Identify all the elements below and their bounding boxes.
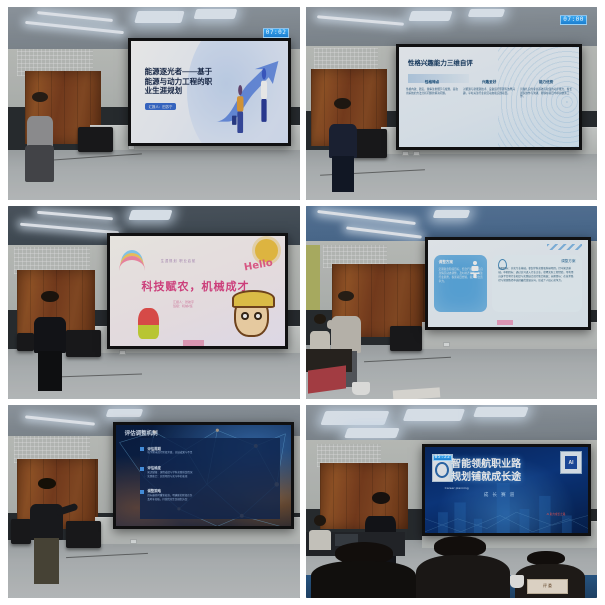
lecture-room-1: 能源逐光者——基于 能源与动力工程的职 业生涯规划 汇报人：田苏宁 07:02 xyxy=(8,7,300,200)
presenter-figure xyxy=(31,291,69,391)
slide-title-line1: 能源逐光者——基于 xyxy=(145,67,220,76)
rainbow-graphic xyxy=(119,256,145,275)
slide-title-line2: 能源与动力工程的职 xyxy=(145,77,220,86)
ceiling-panel-light xyxy=(432,210,469,218)
right-card: 调整方案 短期目标：夯实专业基础，参加学科竞赛和科研项目，打牢知识基础。中期目标… xyxy=(492,255,582,312)
group-heading-text: 调整策略 xyxy=(147,489,161,493)
presenter-torso xyxy=(27,116,53,147)
hello-handwriting: Hello xyxy=(243,258,273,274)
ceiling-panel-light xyxy=(403,409,466,421)
slide-subtitle: 成长赛道 xyxy=(484,492,518,498)
loudspeaker xyxy=(390,326,422,351)
person-illustration-b xyxy=(230,84,250,135)
lecture-room-5: 评估调整机制 评估周期 每学期末进行阶段复盘，总结成果与不足 评估维度 知识储备… xyxy=(8,405,300,598)
slide-column: 性格特点 性格内敛、踏实，做事注重细节与规划，喜欢用系统的方法分析问题并解决问题… xyxy=(406,80,458,100)
group-heading-text: 评估维度 xyxy=(147,466,161,470)
loudspeaker xyxy=(66,330,101,357)
slide-title: 性格兴趣能力三维自评 xyxy=(408,57,473,67)
photo-2[interactable]: 性格兴趣能力三维自评 性格特点 性格内敛、踏实，做事注重细节与规划，喜欢用系统的… xyxy=(306,7,598,200)
presenter-head xyxy=(38,478,55,489)
ceiling-panel-light xyxy=(409,11,453,21)
led-screen-frame[interactable]: 05:22 智能领航职业路 规划铺就成长途 成长赛道 Career planni… xyxy=(422,444,591,537)
presenter-head xyxy=(32,92,48,102)
ceiling-panel-light xyxy=(193,9,237,19)
cartoon-eye-left xyxy=(241,312,249,320)
column-body: 性格内敛、踏实，做事注重细节与规划，喜欢用系统的方法分析问题并解决问题。 xyxy=(406,88,458,96)
column-heading: 性格特点 xyxy=(406,80,458,85)
group-item: 知识储备：课程成绩与学科竞赛获奖情况 xyxy=(147,471,192,475)
ceiling-panel-light xyxy=(467,9,504,17)
slide-surface: 生涯规划 职业启航 科技赋农，机械成才 汇报人：张航宇 班级：机械2班 Hell… xyxy=(110,236,285,346)
presenter-trousers xyxy=(332,156,354,192)
ceiling-panel-light xyxy=(135,11,185,23)
ceiling-panel-light xyxy=(106,409,143,417)
ceiling-panel-light xyxy=(473,407,529,417)
slide-english-label: Career planning xyxy=(445,486,469,490)
audience-shoulders xyxy=(416,555,509,598)
cartoon-character xyxy=(234,295,269,337)
presenter-trousers xyxy=(34,538,59,585)
group-item: 每学期末进行阶段复盘，总结成果与不足 xyxy=(147,451,192,455)
slide-eyebrow: 生涯规划 职业启航 xyxy=(161,258,196,263)
slide-group: 调整策略 目标偏离时重新校准，明确新的阶段任务 及时补短板，持续优化生涯规划方案 xyxy=(140,488,192,501)
seated-head xyxy=(314,515,326,526)
loudspeaker xyxy=(78,127,113,152)
slide-column: 能力优势 具备扎实的专业基础与较强的动手能力，擅长团队协作与沟通，能够在项目中承… xyxy=(520,80,572,100)
presenter-skirt xyxy=(25,145,54,182)
led-screen-frame[interactable]: 评估调整机制 评估周期 每学期末进行阶段复盘，总结成果与不足 评估维度 知识储备… xyxy=(113,422,294,528)
podium-icon xyxy=(469,260,481,278)
slide-surface: 评估调整机制 评估周期 每学期末进行阶段复盘，总结成果与不足 评估维度 知识储备… xyxy=(116,425,291,525)
pink-footer-bar xyxy=(497,320,513,324)
slide-group: 评估周期 每学期末进行阶段复盘，总结成果与不足 xyxy=(140,446,192,455)
green-wall-strip xyxy=(306,245,321,311)
ceiling-panel-light xyxy=(321,411,390,425)
ai-chip-label: AI xyxy=(565,456,577,470)
led-screen-frame[interactable]: 性格兴趣能力三维自评 性格特点 性格内敛、踏实，做事注重细节与规划，喜欢用系统的… xyxy=(396,44,583,150)
wall-socket xyxy=(413,151,420,156)
cartoon-eye-right xyxy=(254,312,262,320)
audience-shoulders xyxy=(311,561,416,598)
wall-socket xyxy=(119,350,126,355)
timer-badge: 07:02 xyxy=(263,28,290,38)
ceiling-panel-light xyxy=(129,210,173,220)
photo-6[interactable]: 05:22 智能领航职业路 规划铺就成长途 成长赛道 Career planni… xyxy=(306,405,598,598)
presenter-torso xyxy=(329,124,356,158)
presenter-figure xyxy=(326,98,361,193)
presenter-figure xyxy=(23,92,58,185)
seal-icon xyxy=(435,462,449,478)
slide-surface: 性格兴趣能力三维自评 性格特点 性格内敛、踏实，做事注重细节与规划，喜欢用系统的… xyxy=(399,47,580,147)
bullet-square-icon xyxy=(140,447,144,451)
presenter-head xyxy=(338,291,354,301)
column-body: 具备扎实的专业基础与较强的动手能力，擅长团队协作与沟通，能够在项目中承担统筹工作… xyxy=(520,88,572,100)
photo-5[interactable]: 评估调整机制 评估周期 每学期末进行阶段复盘，总结成果与不足 评估维度 知识储备… xyxy=(8,405,300,598)
pink-footer-bar xyxy=(183,340,204,345)
slide-red-label: AI 助力成长之路 xyxy=(547,512,566,516)
presenter-figure xyxy=(28,478,66,584)
slide-title: 评估调整机制 xyxy=(125,429,158,437)
presenter-head-with-cap xyxy=(372,492,389,504)
group-item: 及时补短板，持续优化生涯规划方案 xyxy=(147,498,192,502)
lecture-room-6: 05:22 智能领航职业路 规划铺就成长途 成长赛道 Career planni… xyxy=(306,405,598,598)
person-illustration-a xyxy=(253,67,275,124)
ai-chip-icon: AI xyxy=(560,451,581,474)
led-screen-frame[interactable]: 调整方案 定期复盘阶段目标，结合行业动态与自身情况动态调整，及时补齐短板。关注行… xyxy=(425,237,591,330)
column-body: 对能源与新能源技术、设备运行原理有浓厚兴趣，平时关注行业前沿动态和实践项目。 xyxy=(463,88,515,96)
lecture-room-2: 性格兴趣能力三维自评 性格特点 性格内敛、踏实，做事注重细节与规划，喜欢用系统的… xyxy=(306,7,598,200)
slide-title: 能源逐光者——基于 能源与动力工程的职 业生涯规划 xyxy=(145,67,220,94)
seated-head xyxy=(314,314,325,324)
photo-collage: 能源逐光者——基于 能源与动力工程的职 业生涯规划 汇报人：田苏宁 07:02 xyxy=(0,0,605,605)
wall-socket xyxy=(402,151,409,156)
slide-presenter-tag: 汇报人：田苏宁 xyxy=(145,103,177,110)
presenter-head xyxy=(41,291,58,302)
paper-cup xyxy=(352,382,369,396)
led-screen-frame[interactable]: 能源逐光者——基于 能源与动力工程的职 业生涯规划 汇报人：田苏宁 xyxy=(128,38,291,146)
judge-name-card: 评 委 xyxy=(527,579,568,594)
left-card: 调整方案 定期复盘阶段目标，结合行业动态与自身情况动态调整，及时补齐短板。关注行… xyxy=(434,255,487,312)
slide-subtitle: 汇报人：张航宇 班级：机械2班 xyxy=(173,300,194,309)
wall-socket xyxy=(443,342,450,347)
column-heading: 兴趣爱好 xyxy=(463,80,515,85)
slide-subtitle-line2: 班级：机械2班 xyxy=(173,304,194,309)
paper-cup xyxy=(510,575,525,589)
photo-4[interactable]: 调整方案 定期复盘阶段目标，结合行业动态与自身情况动态调整，及时补齐短板。关注行… xyxy=(306,206,598,399)
slide-surface: 能源逐光者——基于 能源与动力工程的职 业生涯规划 汇报人：田苏宁 xyxy=(131,41,288,143)
zigzag-decoration xyxy=(547,244,582,250)
slide-columns: 性格特点 性格内敛、踏实，做事注重细节与规划，喜欢用系统的方法分析问题并解决问题… xyxy=(406,80,572,100)
led-screen-frame[interactable]: 生涯规划 职业启航 科技赋农，机械成才 汇报人：张航宇 班级：机械2班 Hell… xyxy=(107,233,288,349)
slide-surface: 调整方案 定期复盘阶段目标，结合行业动态与自身情况动态调整，及时补齐短板。关注行… xyxy=(428,240,588,327)
bullet-square-icon xyxy=(140,467,144,471)
wall-socket xyxy=(130,539,137,544)
left-card-heading: 调整方案 xyxy=(439,260,453,265)
slide-column: 兴趣爱好 对能源与新能源技术、设备运行原理有浓厚兴趣，平时关注行业前沿动态和实践… xyxy=(463,80,515,100)
presenter-torso xyxy=(34,317,67,353)
university-logo-badge: 05:22 xyxy=(432,454,453,482)
slide-title-line3: 业生涯规划 xyxy=(145,86,220,95)
group-item: 实践能力：实验项目与实习中的表现 xyxy=(147,475,192,479)
group-item: 目标偏离时重新校准，明确新的阶段任务 xyxy=(147,494,192,498)
right-card-body: 短期目标：夯实专业基础，参加学科竞赛和科研项目，打牢知识基础。中期目标：通过实习… xyxy=(498,267,575,283)
slide-group: 评估维度 知识储备：课程成绩与学科竞赛获奖情况 实践能力：实验项目与实习中的表现 xyxy=(140,465,192,478)
loudspeaker xyxy=(66,521,101,548)
cartoon-kid xyxy=(138,308,159,339)
presenter-trousers xyxy=(38,351,61,391)
ceiling-panel-light xyxy=(345,428,401,438)
bullet-square-icon xyxy=(140,490,144,494)
lecture-room-3: 生涯规划 职业启航 科技赋农，机械成才 汇报人：张航宇 班级：机械2班 Hell… xyxy=(8,206,300,399)
slide-title-line1: 智能领航职业路 xyxy=(451,459,565,472)
right-card-heading: 调整方案 xyxy=(561,259,575,264)
presenter-head xyxy=(334,98,351,109)
timer-badge: 05:22 xyxy=(433,455,453,461)
slide-title-line2: 规划铺就成长途 xyxy=(451,472,565,485)
slide-title: 科技赋农，机械成才 xyxy=(142,278,250,294)
presenter-torso xyxy=(331,316,361,353)
photo-3[interactable]: 生涯规划 职业启航 科技赋农，机械成才 汇报人：张航宇 班级：机械2班 Hell… xyxy=(8,206,300,399)
photo-1[interactable]: 能源逐光者——基于 能源与动力工程的职 业生涯规划 汇报人：田苏宁 07:02 xyxy=(8,7,300,200)
timer-badge: 07:00 xyxy=(560,15,587,25)
lecture-room-4: 调整方案 定期复盘阶段目标，结合行业动态与自身情况动态调整，及时补齐短板。关注行… xyxy=(306,206,598,399)
paper-sheet xyxy=(393,388,440,399)
slide-title: 智能领航职业路 规划铺就成长途 xyxy=(451,459,565,485)
slide-surface: 05:22 智能领航职业路 规划铺就成长途 成长赛道 Career planni… xyxy=(425,447,588,534)
column-heading: 能力优势 xyxy=(520,80,572,85)
